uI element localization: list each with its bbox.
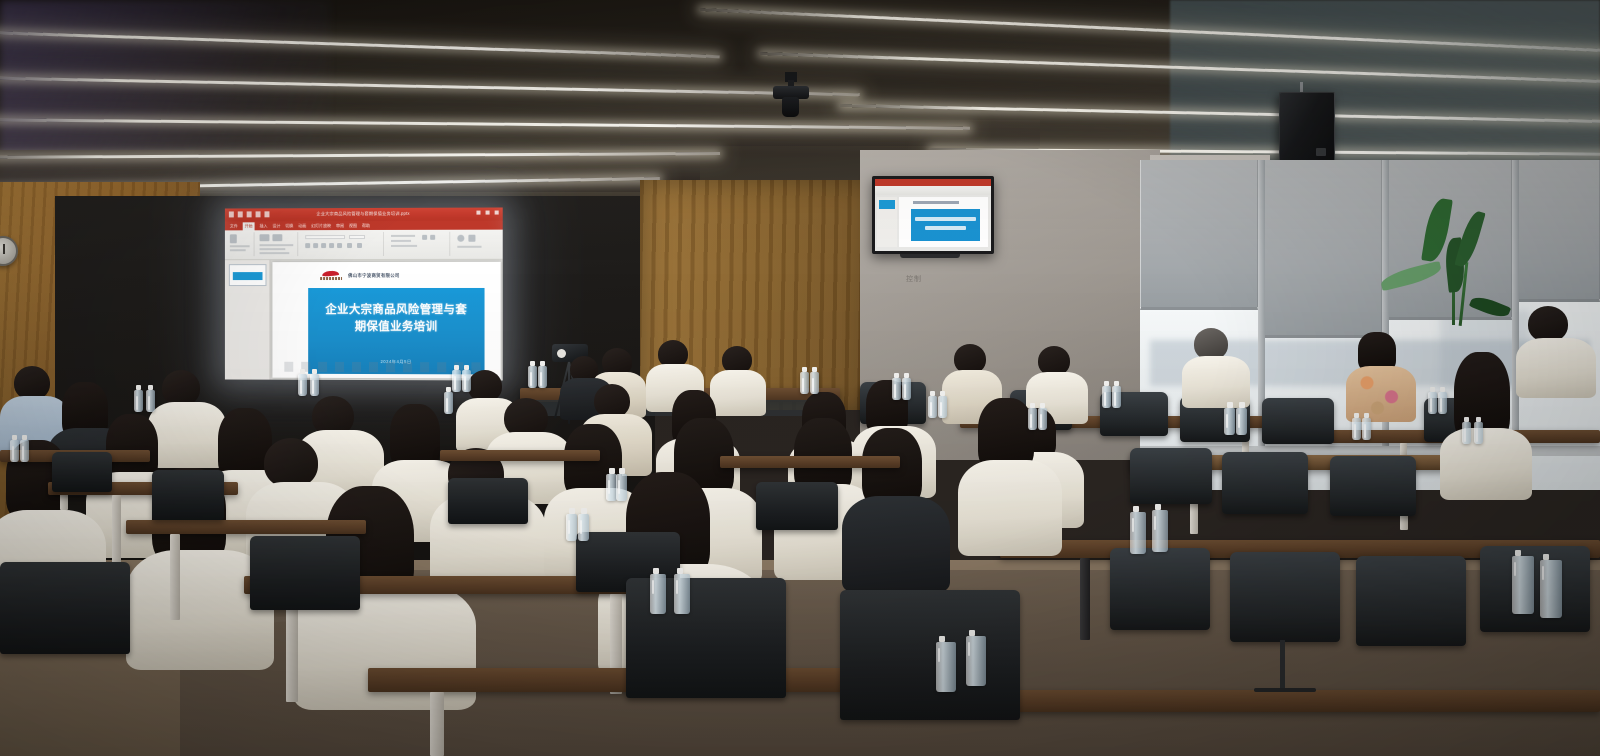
water-bottle[interactable] [146,390,155,412]
table-leg [170,534,180,620]
tv-powerpoint-titlebar [875,179,991,186]
table-leg [430,692,444,756]
quick-access-toolbar[interactable] [229,211,270,217]
tv-slide-title-banner [911,209,980,241]
tv-slide-canvas [899,197,988,247]
water-bottle[interactable] [1224,408,1235,435]
water-bottle[interactable] [1130,512,1146,554]
water-bottle[interactable] [936,642,956,692]
document-title: 企业大宗商品风险管理与套期保值业务培训.pptx [316,211,409,217]
ribbon-group-paragraph[interactable] [388,232,450,256]
chair[interactable] [1110,548,1210,630]
water-bottle[interactable] [938,396,947,418]
water-bottle[interactable] [1428,392,1437,414]
water-bottle[interactable] [1540,560,1562,618]
roller-blind[interactable] [1516,160,1600,302]
camera-lens-icon [557,349,566,358]
more-icon[interactable] [264,211,269,217]
table-leg [286,594,298,702]
redo-icon[interactable] [247,211,252,217]
slide-company-name: 佛山市宁波商贸有限公司 [348,273,400,279]
company-logo-icon [320,270,342,282]
ribbon-tab-design[interactable]: 设计 [272,223,280,229]
training-room-photo: 企业大宗商品风险管理与套期保值业务培训.pptx 文件 开始 插入 设计 切换 … [0,0,1600,756]
chair[interactable] [52,452,112,492]
chair[interactable] [1330,456,1416,516]
water-bottle[interactable] [810,372,819,394]
water-bottle[interactable] [1102,386,1111,408]
tv-thumbnail-panel [877,197,897,247]
restore-icon[interactable] [486,211,490,215]
ribbon-tab-file[interactable]: 文件 [230,223,238,229]
chair[interactable] [1130,448,1212,504]
slide-canvas[interactable]: 佛山市宁波商贸有限公司 企业大宗商品风险管理与套 期保值业务培训 2024年4月… [272,262,500,379]
save-icon[interactable] [229,211,234,217]
ribbon-group-drawing[interactable] [454,232,490,256]
water-bottle[interactable] [1152,510,1168,552]
slide-thumbnail-1[interactable] [229,264,267,286]
chair[interactable] [1262,398,1334,444]
ribbon-group-slides[interactable] [257,232,299,256]
slide-title-line-1: 企业大宗商品风险管理与套 [314,302,478,319]
chair-post [1280,640,1285,690]
projection-screen: 企业大宗商品风险管理与套期保值业务培训.pptx 文件 开始 插入 设计 切换 … [225,207,503,380]
speaker-right [1279,92,1335,164]
ribbon-tab-slideshow[interactable]: 幻灯片放映 [311,223,331,229]
water-bottle[interactable] [578,514,589,541]
table-row [720,456,900,468]
undo-icon[interactable] [238,211,243,217]
water-bottle[interactable] [966,636,986,686]
water-bottle[interactable] [1474,422,1483,444]
water-bottle[interactable] [902,378,911,400]
slide-title-line-2: 期保值业务培训 [314,319,478,336]
chair[interactable] [756,482,838,530]
ribbon-tab-home[interactable]: 开始 [243,222,255,230]
chair[interactable] [1480,546,1590,632]
chair[interactable] [1356,556,1466,646]
water-bottle[interactable] [616,474,627,501]
chair[interactable] [152,470,224,520]
tv-caption-label: 控制 [906,274,922,284]
ribbon-tab-insert[interactable]: 插入 [260,223,268,229]
water-bottle[interactable] [452,370,461,392]
water-bottle[interactable] [444,392,453,414]
water-bottle[interactable] [20,440,29,462]
water-bottle[interactable] [1462,422,1471,444]
tv-stand [900,254,960,258]
roller-blind[interactable] [1262,160,1382,338]
water-bottle[interactable] [650,574,666,614]
chair[interactable] [448,478,528,524]
ceiling-projector [773,72,809,118]
water-bottle[interactable] [462,370,471,392]
ribbon-tab-transitions[interactable]: 切换 [285,223,293,229]
window-controls[interactable] [476,211,498,215]
water-bottle[interactable] [298,374,307,396]
powerpoint-titlebar: 企业大宗商品风险管理与套期保值业务培训.pptx [225,207,503,221]
tv-ribbon [875,186,991,195]
chair[interactable] [840,590,1020,720]
water-bottle[interactable] [1352,418,1361,440]
water-bottle[interactable] [528,366,537,388]
play-icon[interactable] [256,211,261,217]
roller-blind[interactable] [1140,160,1258,310]
slide-title-text: 企业大宗商品风险管理与套 期保值业务培训 [314,302,478,336]
table-row [440,450,600,461]
close-icon[interactable] [495,211,499,215]
chair-base [1254,688,1316,692]
water-bottle[interactable] [1438,392,1447,414]
water-bottle[interactable] [674,574,690,614]
table-leg [1080,558,1090,640]
ribbon-tab-animations[interactable]: 动画 [298,223,306,229]
chair[interactable] [1230,552,1340,642]
water-bottle[interactable] [892,378,901,400]
water-bottle[interactable] [1112,386,1121,408]
water-bottle[interactable] [134,390,143,412]
water-bottle[interactable] [928,396,937,418]
chair[interactable] [0,562,130,654]
water-bottle[interactable] [1028,408,1037,430]
table-row [126,520,366,534]
water-bottle[interactable] [566,514,577,541]
powerpoint-workspace: 佛山市宁波商贸有限公司 企业大宗商品风险管理与套 期保值业务培训 2024年4月… [225,260,503,381]
table-leg [112,495,121,567]
water-bottle[interactable] [1038,408,1047,430]
minimize-icon[interactable] [476,211,480,215]
ceiling-glass-reflection [1170,0,1600,175]
ribbon-tab-view[interactable]: 视图 [349,223,357,229]
ribbon-tab-review[interactable]: 审阅 [336,223,344,229]
ribbon-tab-help[interactable]: 帮助 [362,222,370,228]
water-bottle[interactable] [1362,418,1371,440]
water-bottle[interactable] [310,374,319,396]
water-bottle[interactable] [10,440,19,462]
slide-thumbnail-panel[interactable] [225,260,271,380]
chair[interactable] [250,536,360,610]
water-bottle[interactable] [1512,556,1534,614]
water-bottle[interactable] [800,372,809,394]
water-bottle[interactable] [538,366,547,388]
ribbon-group-clipboard[interactable] [227,232,255,256]
water-bottle[interactable] [1236,408,1247,435]
secondary-display-tv [872,176,994,254]
chair[interactable] [1222,452,1308,514]
ribbon[interactable] [225,230,503,261]
ribbon-group-font[interactable] [302,232,384,256]
